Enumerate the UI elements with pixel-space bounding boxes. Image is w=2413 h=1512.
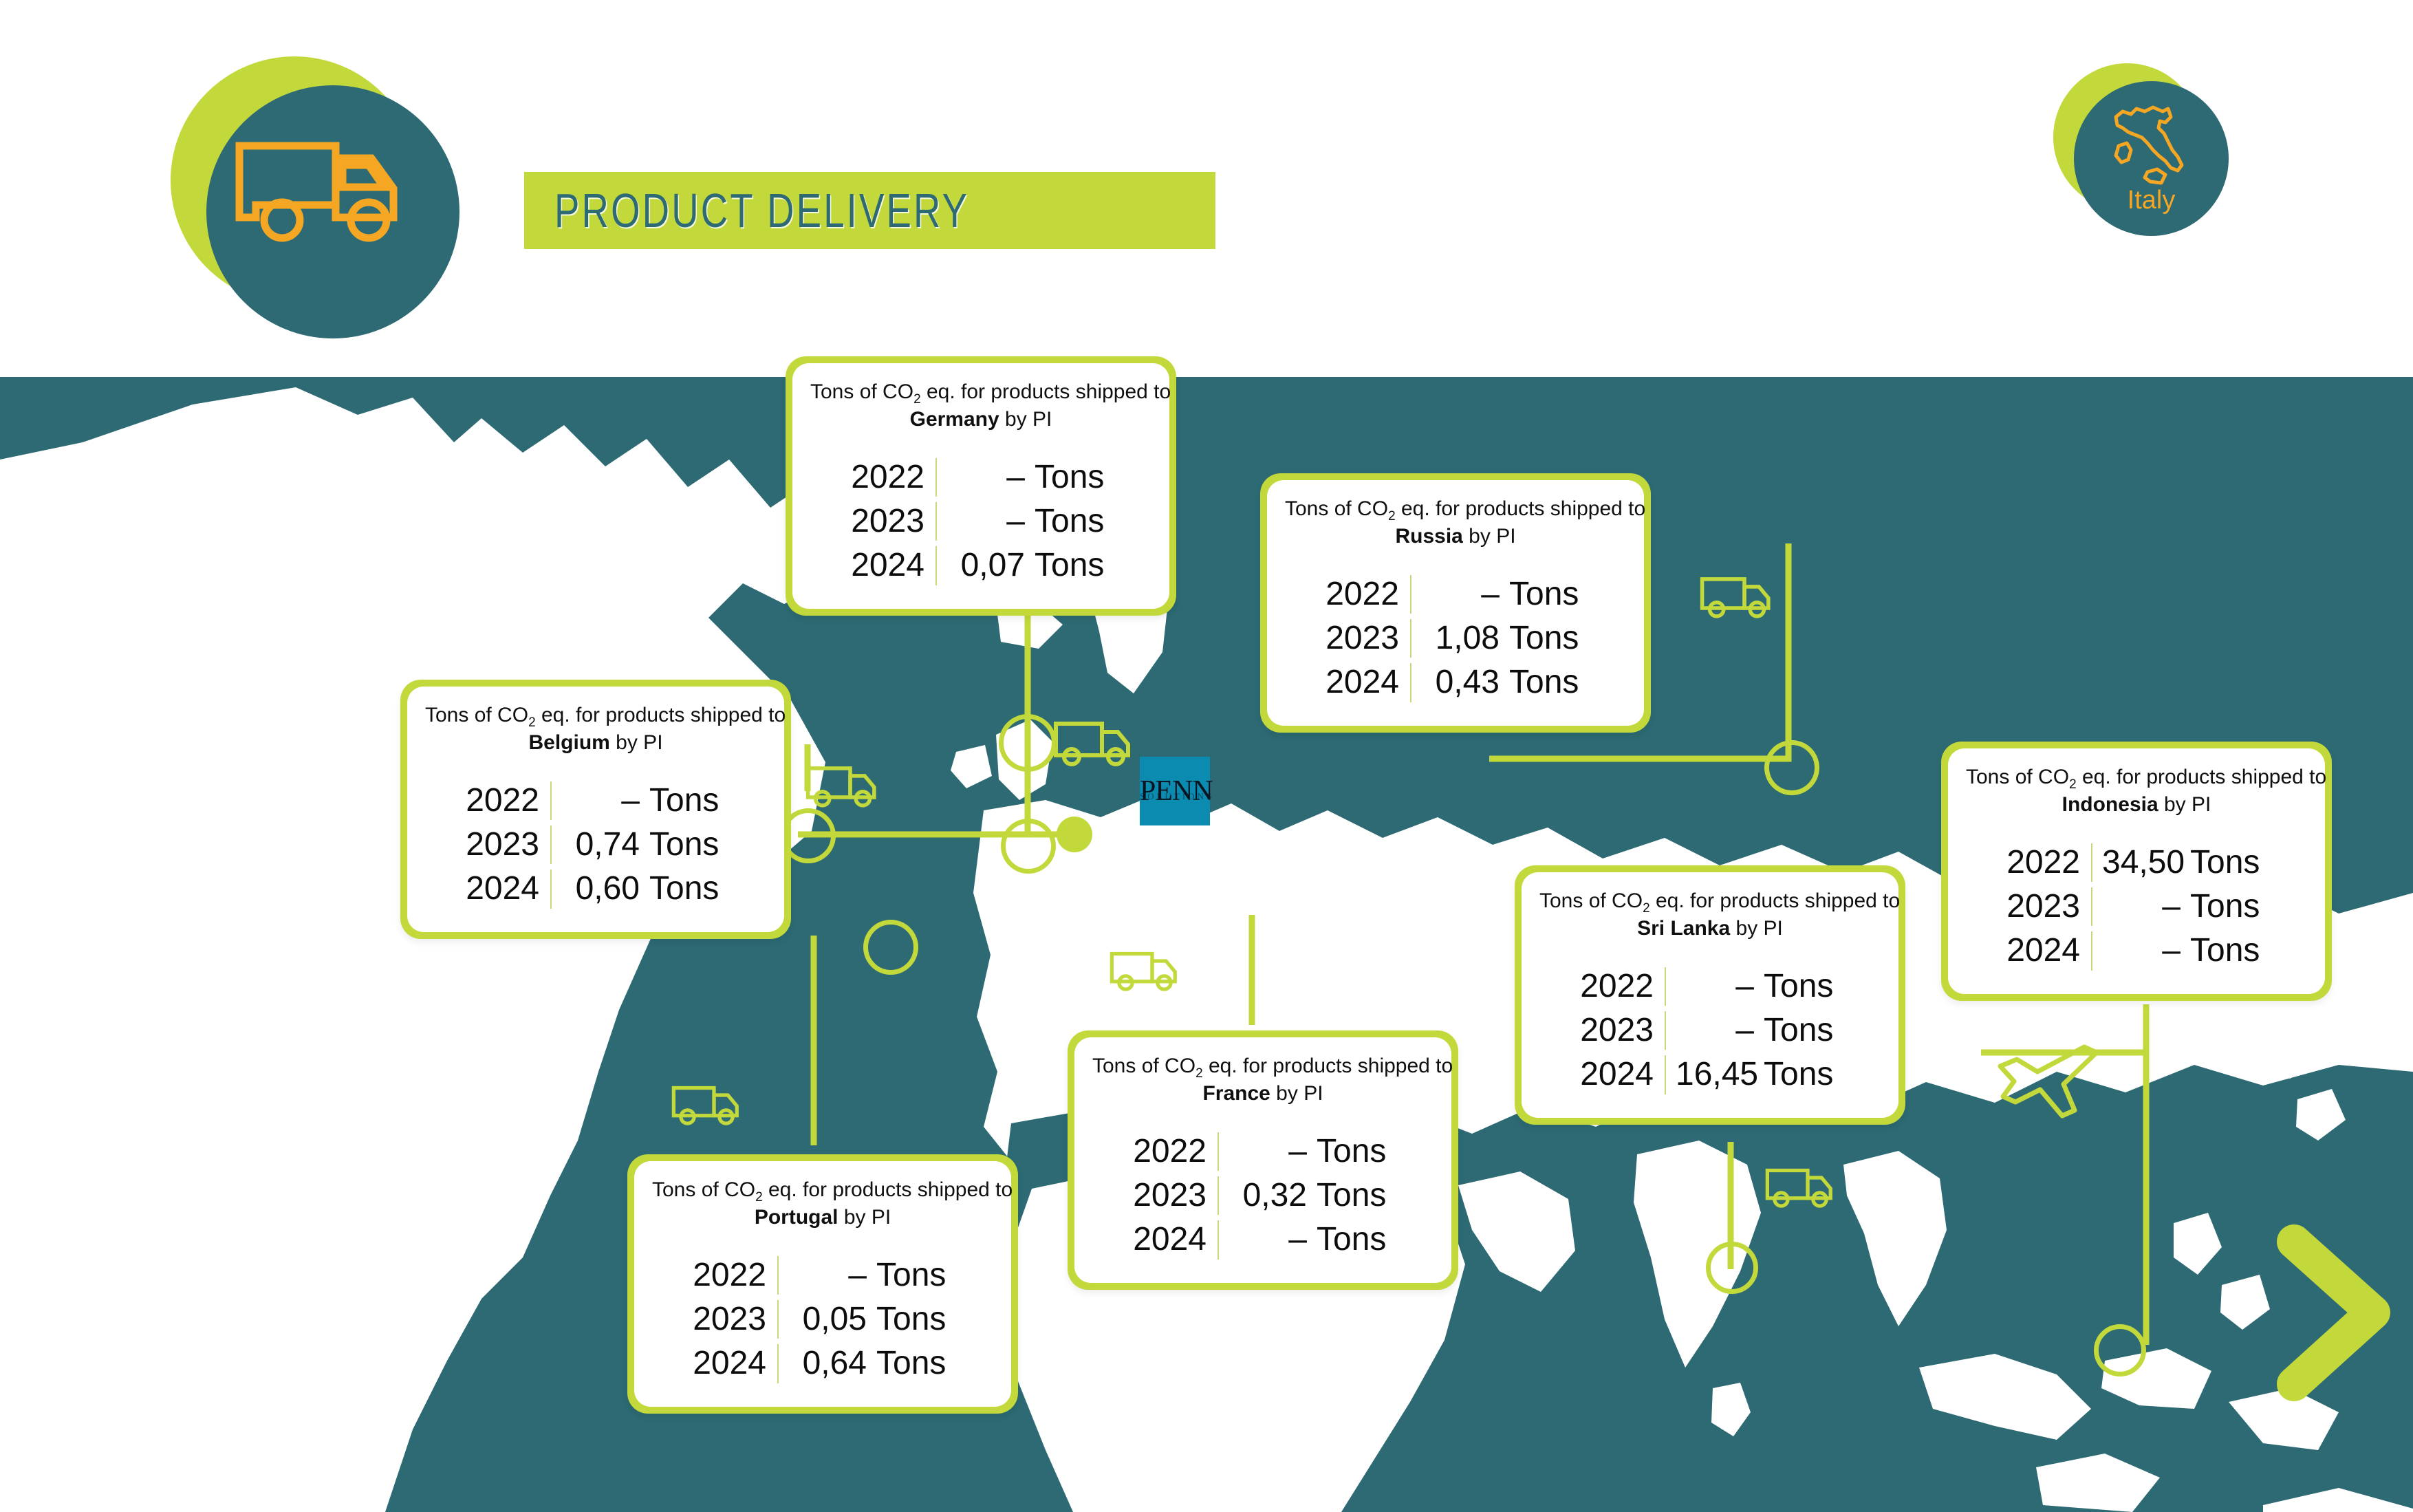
chevron-right-icon — [2270, 1224, 2401, 1403]
page-title-banner: PRODUCT DELIVERY — [524, 172, 1215, 249]
row-value: 0,32 — [1219, 1174, 1317, 1218]
row-unit: Tons — [1764, 1008, 1846, 1052]
row-year: 2022 — [459, 779, 550, 823]
row-unit: Tons — [2190, 841, 2273, 885]
card-srilanka[interactable]: Tons of CO2 eq. for products shipped to … — [1515, 865, 1905, 1125]
card-portugal[interactable]: Tons of CO2 eq. for products shipped to … — [627, 1154, 1018, 1414]
table-row: 2022 – Tons — [686, 1253, 959, 1297]
row-year: 2024 — [2000, 929, 2091, 973]
row-year: 2023 — [1127, 1174, 1218, 1218]
card-rows-srilanka: 2022 – Tons 2023 – Tons 2024 16,45 Tons — [1539, 964, 1881, 1097]
row-unit: Tons — [1764, 964, 1846, 1008]
card-russia[interactable]: Tons of CO2 eq. for products shipped to … — [1260, 473, 1651, 733]
row-year: 2022 — [1127, 1130, 1218, 1174]
truck-icon — [805, 760, 880, 812]
card-rows-germany: 2022 – Tons 2023 – Tons 2024 0,07 Tons — [810, 455, 1151, 588]
table-row: 2023 0,74 Tons — [459, 823, 732, 867]
country-badge-italy: Italy — [2053, 63, 2239, 263]
row-value: – — [2092, 885, 2190, 929]
row-value: – — [1411, 572, 1509, 616]
row-value: 0,64 — [779, 1341, 876, 1385]
row-year: 2023 — [845, 499, 935, 543]
row-value: – — [779, 1253, 876, 1297]
row-year: 2023 — [1319, 616, 1410, 660]
row-value: – — [1219, 1218, 1317, 1262]
card-title-germany: Tons of CO2 eq. for products shipped to … — [810, 380, 1151, 432]
row-unit: Tons — [1509, 616, 1592, 660]
italy-badge-label: Italy — [2074, 186, 2229, 215]
card-rows-russia: 2022 – Tons 2023 1,08 Tons 2024 0,43 Ton… — [1285, 572, 1626, 705]
row-unit: Tons — [2190, 929, 2273, 973]
card-rows-indonesia: 2022 34,50 Tons 2023 – Tons 2024 – Tons — [1966, 841, 2307, 973]
truck-icon — [1764, 1163, 1837, 1212]
card-germany[interactable]: Tons of CO2 eq. for products shipped to … — [786, 356, 1176, 616]
row-unit: Tons — [649, 779, 732, 823]
airplane-icon — [1988, 1039, 2112, 1121]
table-row: 2024 0,64 Tons — [686, 1341, 959, 1385]
row-value: 34,50 — [2092, 841, 2190, 885]
table-row: 2022 – Tons — [459, 779, 732, 823]
row-value: 0,05 — [779, 1297, 876, 1341]
map-node-ring — [1764, 740, 1819, 795]
card-title-belgium: Tons of CO2 eq. for products shipped to … — [425, 703, 766, 755]
italy-map-icon — [2105, 102, 2194, 195]
row-value: 0,60 — [552, 867, 649, 911]
table-row: 2023 – Tons — [1574, 1008, 1846, 1052]
truck-icon — [1699, 571, 1775, 623]
row-year: 2023 — [1574, 1008, 1665, 1052]
row-unit: Tons — [1035, 455, 1117, 499]
row-value: 0,07 — [937, 543, 1035, 587]
card-rows-portugal: 2022 – Tons 2023 0,05 Tons 2024 0,64 Ton… — [652, 1253, 993, 1386]
truck-badge — [171, 56, 473, 332]
row-unit: Tons — [1509, 660, 1592, 704]
table-row: 2022 34,50 Tons — [2000, 841, 2273, 885]
table-row: 2022 – Tons — [1127, 1130, 1399, 1174]
row-unit: Tons — [1035, 499, 1117, 543]
map-node-ring — [1706, 1242, 1758, 1294]
row-value: 0,43 — [1411, 660, 1509, 704]
row-unit: Tons — [2190, 885, 2273, 929]
page-title: PRODUCT DELIVERY — [554, 183, 969, 238]
card-title-russia: Tons of CO2 eq. for products shipped to … — [1285, 497, 1626, 549]
card-title-srilanka: Tons of CO2 eq. for products shipped to … — [1539, 889, 1881, 941]
row-unit: Tons — [876, 1297, 959, 1341]
row-year: 2023 — [2000, 885, 2091, 929]
infographic-root: PENN SOLUTIONS PRODUCT DELIVERY — [0, 0, 2413, 1512]
row-unit: Tons — [1764, 1052, 1846, 1097]
row-year: 2024 — [1127, 1218, 1218, 1262]
table-row: 2024 – Tons — [2000, 929, 2273, 973]
truck-icon — [234, 139, 440, 256]
row-year: 2024 — [1574, 1052, 1665, 1097]
row-unit: Tons — [649, 867, 732, 911]
row-year: 2022 — [1574, 964, 1665, 1008]
penn-solutions-logo: PENN SOLUTIONS — [1140, 757, 1210, 825]
row-value: – — [1666, 964, 1764, 1008]
truck-icon — [1052, 715, 1135, 770]
row-year: 2022 — [686, 1253, 777, 1297]
table-row: 2024 0,07 Tons — [845, 543, 1117, 587]
table-row: 2024 – Tons — [1127, 1218, 1399, 1262]
card-belgium[interactable]: Tons of CO2 eq. for products shipped to … — [400, 680, 791, 939]
row-value: – — [937, 499, 1035, 543]
row-year: 2024 — [459, 867, 550, 911]
table-row: 2022 – Tons — [1319, 572, 1592, 616]
table-row: 2023 – Tons — [2000, 885, 2273, 929]
row-year: 2023 — [459, 823, 550, 867]
card-title-portugal: Tons of CO2 eq. for products shipped to … — [652, 1178, 993, 1230]
card-rows-france: 2022 – Tons 2023 0,32 Tons 2024 – Tons — [1092, 1130, 1433, 1262]
row-year: 2024 — [1319, 660, 1410, 704]
table-row: 2022 – Tons — [845, 455, 1117, 499]
map-node-ring — [999, 714, 1057, 772]
card-france[interactable]: Tons of CO2 eq. for products shipped to … — [1068, 1030, 1458, 1290]
map-node-ring — [863, 920, 918, 975]
row-year: 2022 — [2000, 841, 2091, 885]
row-value: – — [552, 779, 649, 823]
truck-icon — [671, 1080, 743, 1130]
row-value: 16,45 — [1666, 1052, 1764, 1097]
card-title-france: Tons of CO2 eq. for products shipped to … — [1092, 1054, 1433, 1106]
table-row: 2024 16,45 Tons — [1574, 1052, 1846, 1097]
row-value: 0,74 — [552, 823, 649, 867]
row-unit: Tons — [876, 1253, 959, 1297]
row-value: 1,08 — [1411, 616, 1509, 660]
row-year: 2024 — [686, 1341, 777, 1385]
row-year: 2023 — [686, 1297, 777, 1341]
row-year: 2024 — [845, 543, 935, 587]
table-row: 2023 0,05 Tons — [686, 1297, 959, 1341]
row-year: 2022 — [1319, 572, 1410, 616]
row-value: – — [1666, 1008, 1764, 1052]
card-title-indonesia: Tons of CO2 eq. for products shipped to … — [1966, 765, 2307, 817]
table-row: 2022 – Tons — [1574, 964, 1846, 1008]
row-unit: Tons — [876, 1341, 959, 1385]
table-row: 2023 – Tons — [845, 499, 1117, 543]
card-rows-belgium: 2022 – Tons 2023 0,74 Tons 2024 0,60 Ton… — [425, 779, 766, 911]
row-year: 2022 — [845, 455, 935, 499]
row-unit: Tons — [1317, 1174, 1399, 1218]
truck-icon — [1109, 946, 1181, 995]
row-value: – — [1219, 1130, 1317, 1174]
table-row: 2024 0,60 Tons — [459, 867, 732, 911]
card-indonesia[interactable]: Tons of CO2 eq. for products shipped to … — [1941, 742, 2332, 1001]
table-row: 2023 0,32 Tons — [1127, 1174, 1399, 1218]
map-node-ring — [1001, 819, 1056, 874]
row-unit: Tons — [649, 823, 732, 867]
table-row: 2023 1,08 Tons — [1319, 616, 1592, 660]
penn-logo-subword: SOLUTIONS — [1140, 791, 1210, 802]
row-value: – — [2092, 929, 2190, 973]
row-unit: Tons — [1035, 543, 1117, 587]
row-unit: Tons — [1317, 1130, 1399, 1174]
row-value: – — [937, 455, 1035, 499]
map-node-ring — [2094, 1324, 2146, 1376]
row-unit: Tons — [1509, 572, 1592, 616]
row-unit: Tons — [1317, 1218, 1399, 1262]
table-row: 2024 0,43 Tons — [1319, 660, 1592, 704]
